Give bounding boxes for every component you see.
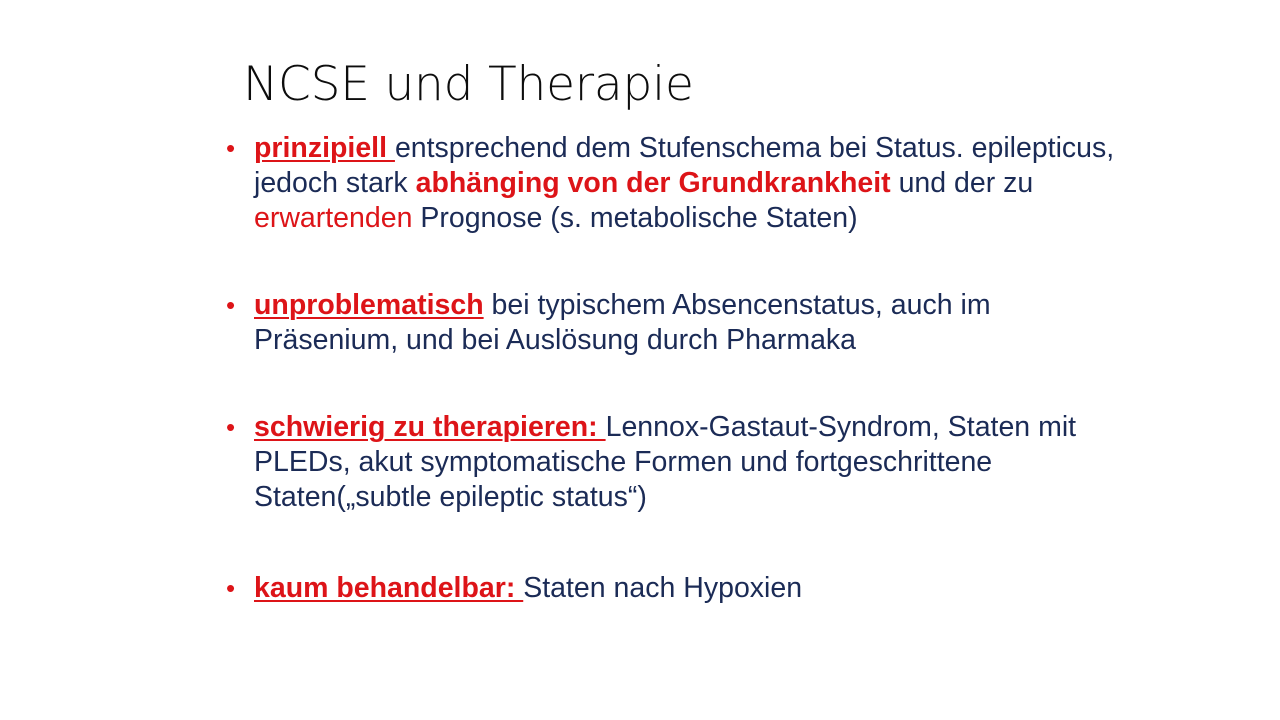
bullet-point-icon: • [226, 288, 248, 323]
list-item-text: prinzipiell entsprechend dem Stufenschem… [254, 131, 1142, 236]
presentation-slide: NCSE und Therapie • prinzipiell entsprec… [0, 0, 1280, 720]
list-item-text: schwierig zu therapieren: Lennox-Gastaut… [254, 410, 1142, 515]
list-item: • prinzipiell entsprechend dem Stufensch… [222, 131, 1142, 236]
list-item-text: kaum behandelbar: Staten nach Hypoxien [254, 571, 1142, 606]
list-item: • kaum behandelbar: Staten nach Hypoxien [222, 571, 1142, 606]
bullet-list: • prinzipiell entsprechend dem Stufensch… [222, 131, 1142, 606]
bullet-point-icon: • [226, 571, 248, 606]
list-item: • unproblematisch bei typischem Absencen… [222, 288, 1142, 358]
page-title: NCSE und Therapie [243, 57, 1223, 112]
body-run: und der zu [891, 167, 1034, 199]
list-item-text: unproblematisch bei typischem Absencenst… [254, 288, 1142, 358]
body-run: Staten nach Hypoxien [523, 572, 802, 604]
bullet-point-icon: • [226, 410, 248, 445]
emphasis-run: schwierig zu therapieren: [254, 411, 606, 443]
emphasis-run: erwartenden [254, 202, 412, 234]
emphasis-run: kaum behandelbar: [254, 572, 523, 604]
body-run: Prognose (s. metabolische Staten) [412, 202, 857, 234]
list-item: • schwierig zu therapieren: Lennox-Gasta… [222, 410, 1142, 515]
emphasis-run: prinzipiell [254, 132, 395, 164]
emphasis-run: abhänging von der Grundkrankheit [416, 167, 891, 199]
bullet-point-icon: • [226, 131, 248, 166]
emphasis-run: unproblematisch [254, 289, 484, 321]
